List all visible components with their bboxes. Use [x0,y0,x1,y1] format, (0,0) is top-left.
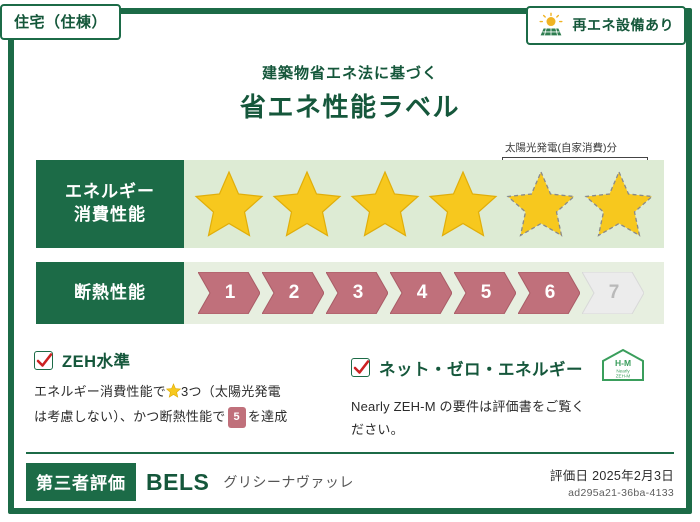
claim-net-zero-title: ネット・ゼロ・エネルギー [379,356,583,380]
check-icon-zeh [34,351,53,370]
insulation-level-5: 5 [454,272,516,314]
claim-zeh-text-line2-b: を達成 [248,409,288,424]
insulation-performance-row: 断熱性能 1 2 [36,262,664,324]
evaluation-date: 評価日 2025年2月3日 [550,465,674,484]
star-icon-4 [424,165,502,243]
insulation-level-5-num: 5 [479,282,492,304]
bels-wordmark: BELS [146,469,209,496]
star-icon-5-solar [502,165,580,243]
star-icon-inline [166,383,181,406]
claim-net-zero-text: Nearly ZEH-M の要件は評価書をご覧く ださい。 [351,396,654,442]
insulation-level-6: 6 [518,272,580,314]
housing-type-chip: 住宅（住棟） [0,4,121,40]
energy-performance-stars-panel [184,160,664,248]
zeh-house-logo: H-M Nearly ZEH-M [592,348,646,387]
energy-performance-row-label: エネルギー 消費性能 [36,160,184,248]
solar-self-consumption-note: 太陽光発電(自家消費)分 [505,140,617,155]
claim-zeh: ZEH水準 エネルギー消費性能で3つ（太陽光発電 は考慮しない）、かつ断熱性能で… [34,348,351,442]
insulation-level-2-num: 2 [287,282,300,304]
claim-zeh-text-line1-b: 3つ（太陽光発電 [181,384,281,399]
claim-zeh-text-line2-a: は考慮しない）、かつ断熱性能で [34,409,226,424]
energy-performance-row-label-line1: エネルギー [65,181,155,204]
insulation-level-2: 2 [262,272,324,314]
claim-net-zero-text-line2: ださい。 [351,422,404,437]
renewable-energy-chip: 再エネ設備あり [526,6,687,45]
insulation-level-4: 4 [390,272,452,314]
star-icon-3 [346,165,424,243]
star-icon-6-solar [580,165,658,243]
insulation-level-3: 3 [326,272,388,314]
insulation-levels-panel: 1 2 3 4 [184,262,664,324]
insulation-level-7-num: 7 [607,282,620,304]
claim-zeh-text-line1-a: エネルギー消費性能で [34,384,166,399]
svg-text:ZEH-M: ZEH-M [616,374,631,379]
renewable-energy-label: 再エネ設備あり [573,15,675,35]
footer-divider [26,452,674,454]
sun-panel-icon [536,12,566,38]
insulation-level-1: 1 [198,272,260,314]
claim-zeh-text: エネルギー消費性能で3つ（太陽光発電 は考慮しない）、かつ断熱性能で5を達成 [34,381,337,429]
insulation-performance-row-label: 断熱性能 [36,262,184,324]
claims-section: ZEH水準 エネルギー消費性能で3つ（太陽光発電 は考慮しない）、かつ断熱性能で… [34,348,668,442]
energy-performance-row: エネルギー 消費性能 [36,160,664,248]
energy-performance-row-label-line2: 消費性能 [74,204,146,227]
insulation-level-1-num: 1 [223,282,236,304]
footer: 第三者評価 BELS グリシーナヴァッレ 評価日 2025年2月3日 ad295… [26,458,674,506]
insulation-level-4-num: 4 [415,282,428,304]
insulation-level-3-num: 3 [351,282,364,304]
insulation-level-7: 7 [582,272,644,314]
svg-text:H-M: H-M [615,358,631,368]
claim-zeh-title: ZEH水準 [62,348,131,372]
energy-performance-label: 住宅（住棟） [0,0,700,522]
label-title: 省エネ性能ラベル [0,87,700,124]
star-icon-2 [268,165,346,243]
evaluation-id: ad295a21-36ba-4133 [550,487,674,499]
building-name: グリシーナヴァッレ [223,472,354,492]
claim-net-zero: ネット・ゼロ・エネルギー H-M Nearly ZEH-M Nearly ZEH… [351,348,668,442]
footer-right-block: 評価日 2025年2月3日 ad295a21-36ba-4133 [550,465,674,499]
star-icon-1 [190,165,268,243]
claim-net-zero-text-line1: Nearly ZEH-M の要件は評価書をご覧く [351,399,585,414]
label-subtitle: 建築物省エネ法に基づく [0,62,700,83]
insulation-level-6-num: 6 [543,282,556,304]
third-party-eval-badge: 第三者評価 [26,463,136,501]
check-icon-net-zero [351,358,370,377]
insulation-badge-inline: 5 [228,407,246,428]
